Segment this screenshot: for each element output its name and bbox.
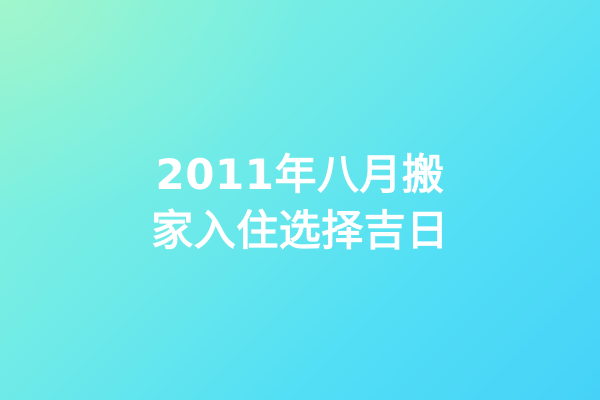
- page-title-line-1: 2011年八月搬: [150, 147, 450, 203]
- page-title: 2011年八月搬 家入住选择吉日: [150, 147, 450, 259]
- page-title-line-2: 家入住选择吉日: [150, 203, 450, 259]
- title-banner: 2011年八月搬 家入住选择吉日: [0, 0, 600, 400]
